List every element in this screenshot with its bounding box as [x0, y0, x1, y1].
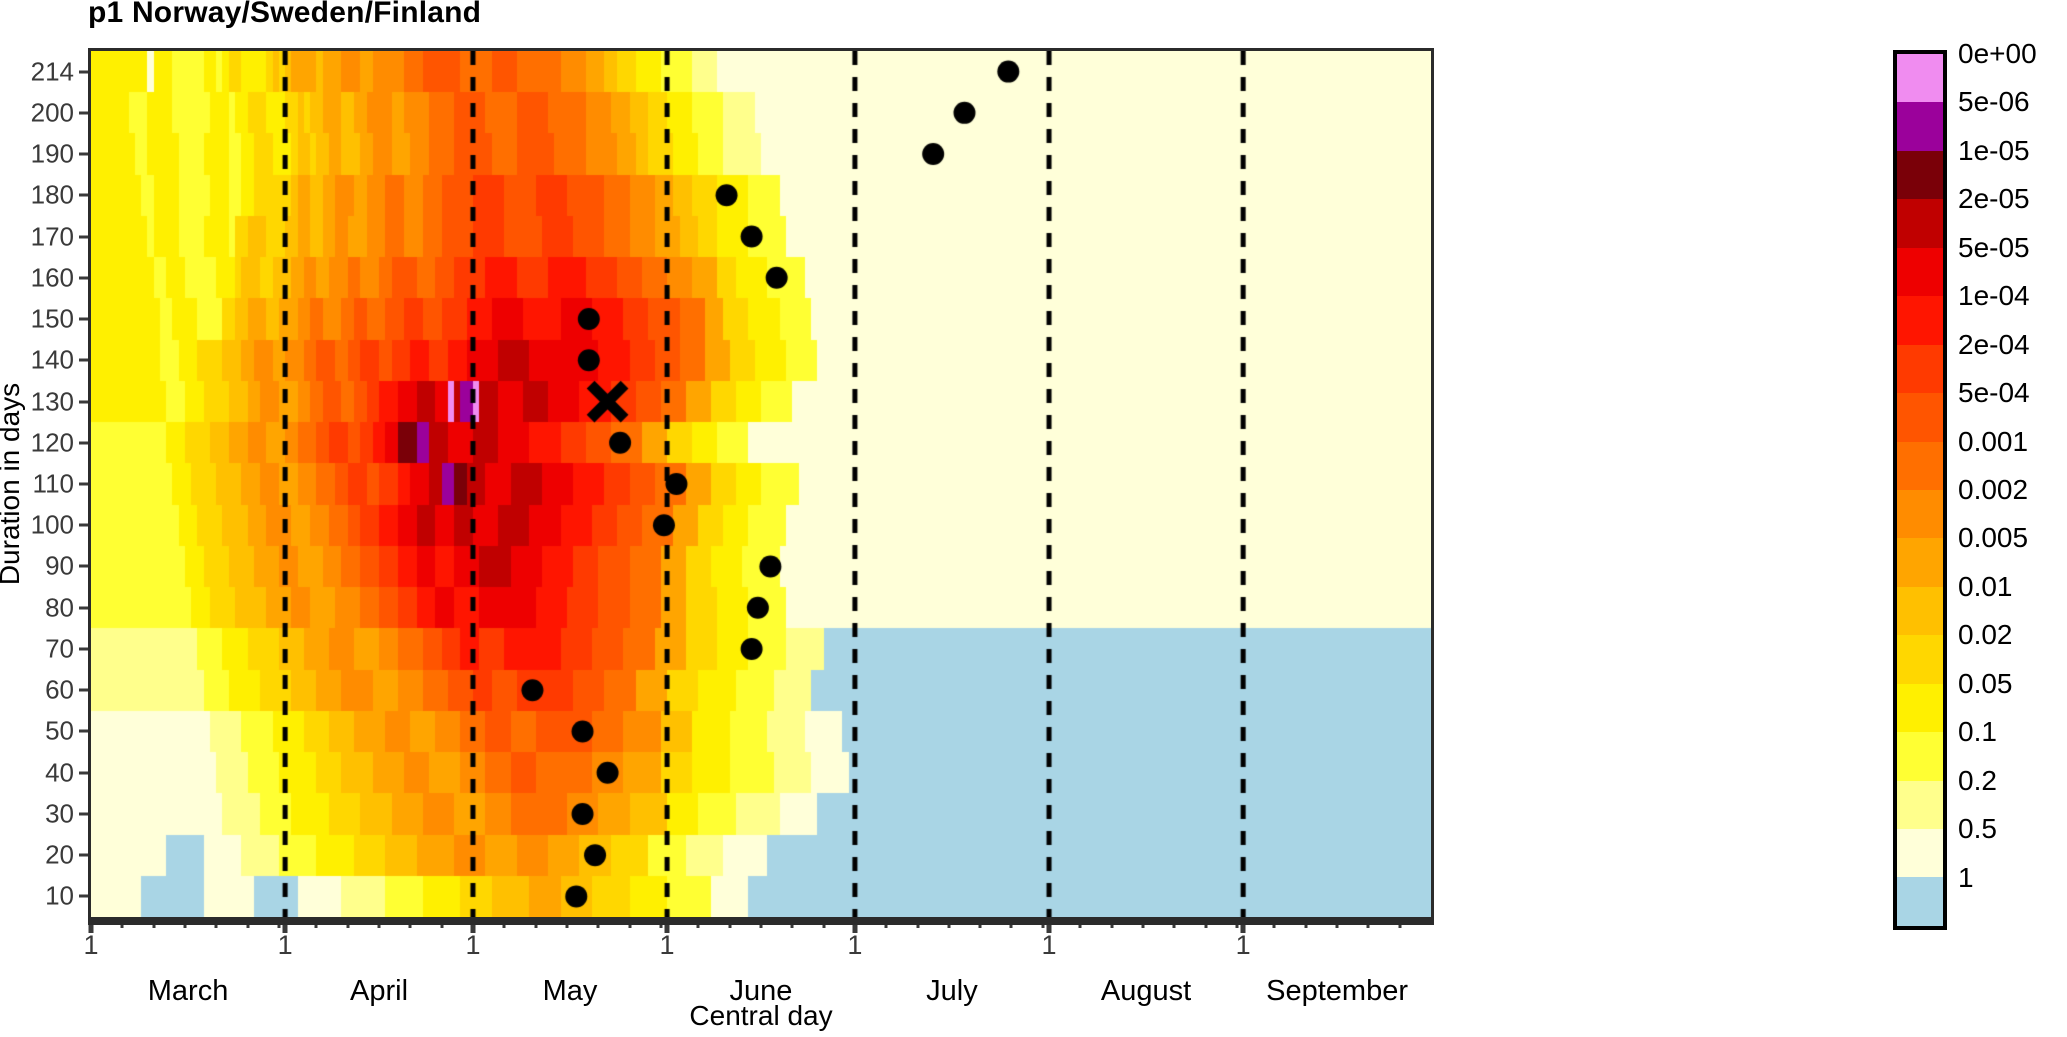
y-axis-tick-mark: [79, 400, 88, 403]
y-axis-tick-mark: [79, 854, 88, 857]
y-axis-tick-mark: [79, 111, 88, 114]
heatmap-plot-area[interactable]: [88, 48, 1434, 920]
x-axis-month-label: August: [1101, 975, 1191, 1008]
y-axis-tick-mark: [79, 483, 88, 486]
y-axis-tick-mark: [79, 565, 88, 568]
y-axis-tick-label: 180: [31, 180, 74, 211]
x-axis-month-label: September: [1266, 975, 1408, 1008]
colorbar-tick-label: 5e-05: [1958, 232, 2030, 264]
x-axis-month-label: May: [543, 975, 598, 1008]
colorbar-tick-label: 2e-04: [1958, 329, 2030, 361]
y-axis-tick-label: 190: [31, 139, 74, 170]
y-axis-tick-mark: [79, 194, 88, 197]
colorbar-swatch: [1897, 490, 1943, 538]
colorbar-tick-label: 0.005: [1958, 522, 2028, 554]
x-axis-tick-label: 1: [660, 930, 675, 961]
colorbar-swatch: [1897, 296, 1943, 344]
colorbar-tick-label: 0.01: [1958, 571, 2013, 603]
colorbar-tick-label: 0.05: [1958, 668, 2013, 700]
y-axis-tick-label: 130: [31, 386, 74, 417]
x-axis-tick-label: 1: [465, 930, 480, 961]
y-axis-tick-label: 90: [45, 551, 74, 582]
y-axis-tick-label: 170: [31, 221, 74, 252]
colorbar-swatch: [1897, 684, 1943, 732]
y-axis-tick-label: 50: [45, 716, 74, 747]
y-axis-tick-mark: [79, 647, 88, 650]
colorbar-swatch: [1897, 538, 1943, 586]
x-axis-month-label: March: [148, 975, 229, 1008]
colorbar-swatch: [1897, 199, 1943, 247]
colorbar-swatch: [1897, 781, 1943, 829]
colorbar-swatch: [1897, 877, 1943, 925]
y-axis-tick-label: 150: [31, 304, 74, 335]
colorbar-swatch: [1897, 248, 1943, 296]
colorbar-tick-label: 0.001: [1958, 426, 2028, 458]
colorbar-swatch: [1897, 635, 1943, 683]
colorbar-tick-label: 2e-05: [1958, 183, 2030, 215]
colorbar-swatch: [1897, 829, 1943, 877]
y-axis-tick-label: 40: [45, 757, 74, 788]
x-axis-tick-label: 1: [847, 930, 862, 961]
y-axis-tick-label: 70: [45, 633, 74, 664]
colorbar-tick-label: 1e-05: [1958, 135, 2030, 167]
y-axis-tick-mark: [79, 235, 88, 238]
colorbar-swatch: [1897, 732, 1943, 780]
colorbar[interactable]: [1893, 50, 1947, 930]
x-axis-tick-label: 1: [278, 930, 293, 961]
y-axis-tick-mark: [79, 771, 88, 774]
y-axis-tick-label: 30: [45, 798, 74, 829]
colorbar-tick-label: 1: [1958, 862, 1974, 894]
y-axis-tick-mark: [79, 318, 88, 321]
colorbar-swatch: [1897, 587, 1943, 635]
colorbar-swatch: [1897, 442, 1943, 490]
y-axis-tick-mark: [79, 730, 88, 733]
colorbar-tick-label: 1e-04: [1958, 280, 2030, 312]
colorbar-swatch: [1897, 54, 1943, 102]
colorbar-tick-label: 0e+00: [1958, 38, 2037, 70]
colorbar-swatch: [1897, 393, 1943, 441]
y-axis-tick-mark: [79, 153, 88, 156]
colorbar-tick-label: 0.1: [1958, 716, 1997, 748]
y-axis-tick-label: 20: [45, 840, 74, 871]
x-axis-line: [88, 920, 1434, 925]
y-axis-tick-mark: [79, 524, 88, 527]
y-axis-tick-mark: [79, 70, 88, 73]
y-axis-tick-label: 214: [31, 56, 74, 87]
x-axis-title: Central day: [689, 1000, 832, 1032]
x-axis-tick-label: 1: [1236, 930, 1251, 961]
colorbar-tick-label: 0.02: [1958, 619, 2013, 651]
y-axis-tick-mark: [79, 812, 88, 815]
y-axis-tick-mark: [79, 895, 88, 898]
y-axis-tick-label: 140: [31, 345, 74, 376]
y-axis-tick-mark: [79, 689, 88, 692]
y-axis-tick-mark: [79, 606, 88, 609]
y-axis-tick-mark: [79, 276, 88, 279]
x-axis-month-label: April: [350, 975, 408, 1008]
colorbar-swatch: [1897, 102, 1943, 150]
y-axis-tick-label: 60: [45, 675, 74, 706]
colorbar-swatch: [1897, 345, 1943, 393]
colorbar-tick-label: 5e-04: [1958, 377, 2030, 409]
y-axis-tick-label: 100: [31, 510, 74, 541]
chart-title: p1 Norway/Sweden/Finland: [88, 0, 481, 30]
colorbar-tick-label: 5e-06: [1958, 86, 2030, 118]
y-axis-tick-label: 200: [31, 97, 74, 128]
colorbar-tick-label: 0.5: [1958, 813, 1997, 845]
colorbar-tick-label: 0.002: [1958, 474, 2028, 506]
colorbar-swatch: [1897, 151, 1943, 199]
y-axis-tick-mark: [79, 359, 88, 362]
x-axis-tick-label: 1: [83, 930, 98, 961]
x-axis-tick-label: 1: [1042, 930, 1057, 961]
y-axis-title: Duration in days: [0, 383, 26, 585]
y-axis-tick-label: 10: [45, 881, 74, 912]
heatmap-markers-layer: [91, 51, 1431, 917]
y-axis-tick-label: 160: [31, 262, 74, 293]
colorbar-tick-label: 0.2: [1958, 765, 1997, 797]
y-axis-tick-mark: [79, 441, 88, 444]
y-axis-tick-label: 80: [45, 592, 74, 623]
y-axis-tick-label: 120: [31, 427, 74, 458]
y-axis-tick-label: 110: [33, 469, 74, 500]
x-axis-month-label: July: [926, 975, 978, 1008]
